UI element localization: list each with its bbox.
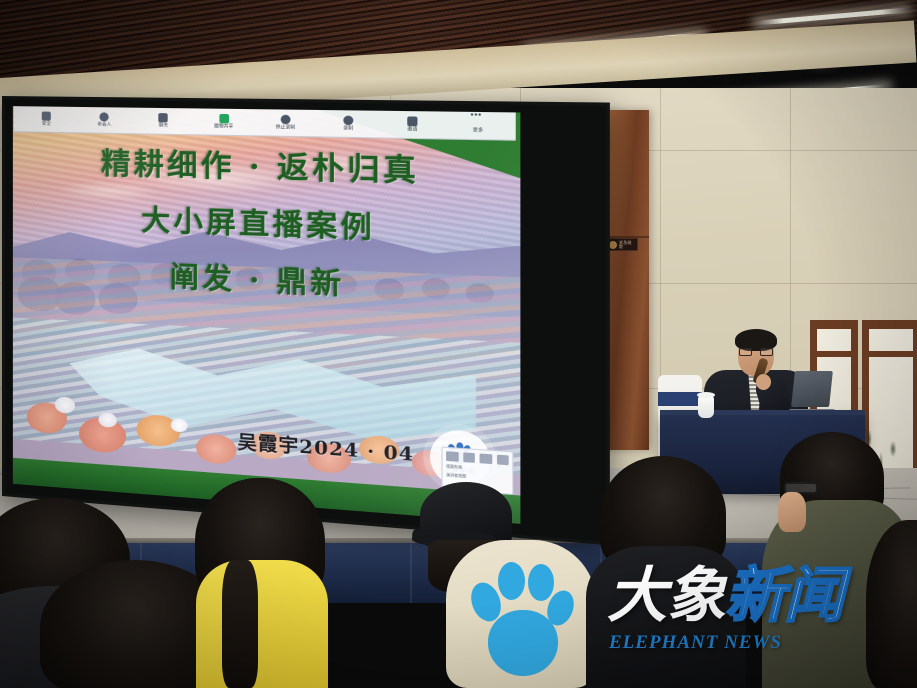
slide-title-line-2: 大小屏直播案例 bbox=[13, 196, 521, 256]
slide-title-line-1: 精耕细作 · 返朴归真 bbox=[13, 140, 521, 197]
toolbar-item-record[interactable]: 录制 bbox=[324, 116, 373, 132]
laptop bbox=[789, 371, 833, 415]
layout-option-tiled[interactable] bbox=[496, 455, 508, 466]
toolbar-item-stop-record[interactable]: 停止录制 bbox=[261, 115, 309, 131]
layout-option-gallery[interactable] bbox=[463, 452, 475, 463]
toolbar-label: 安全 bbox=[42, 122, 51, 127]
toolbar-label: 邀请 bbox=[407, 127, 417, 132]
toolbar-item-share-screen[interactable]: 圈物共享 bbox=[200, 114, 247, 130]
layout-option-grid[interactable] bbox=[480, 453, 492, 464]
wall-plaque: 紧急疏散 bbox=[606, 238, 638, 251]
watermark-text-outlined: 新闻 bbox=[725, 561, 843, 631]
laptop-lid bbox=[791, 371, 833, 407]
shield-icon bbox=[42, 112, 51, 121]
layout-popup-option[interactable]: 演讲者视图 bbox=[446, 472, 509, 481]
toolbar-item-security[interactable]: 安全 bbox=[24, 112, 68, 127]
chat-icon bbox=[159, 113, 168, 122]
watermark-title: 大象新闻 bbox=[607, 566, 843, 626]
layout-options-row[interactable] bbox=[446, 451, 509, 465]
paw-print-icon bbox=[468, 556, 574, 678]
plaque-emblem-icon bbox=[609, 241, 617, 249]
slide-title: 精耕细作 · 返朴归真 大小屏直播案例 阐发 · 鼎新 bbox=[13, 140, 521, 315]
toolbar-label: 更多 bbox=[473, 128, 483, 133]
toolbar-label: 圈物共享 bbox=[214, 124, 233, 129]
toolbar-label: 录制 bbox=[343, 126, 353, 131]
audience-member-yellow-jacket-body bbox=[196, 560, 328, 688]
record-icon bbox=[343, 116, 353, 126]
presentation-slide: 精耕细作 · 返朴归真 大小屏直播案例 阐发 · 鼎新 吴霞宇2024 · 04… bbox=[13, 106, 521, 524]
toolbar-label: 停止录制 bbox=[276, 125, 296, 130]
audience-member-yellow-jacket-long-hair bbox=[222, 560, 258, 688]
presenter-glasses bbox=[739, 348, 773, 356]
toolbar-item-participants[interactable]: 参会人 bbox=[82, 112, 127, 127]
layout-option-speaker[interactable] bbox=[446, 451, 458, 462]
participants-icon bbox=[100, 113, 109, 122]
teacup bbox=[698, 396, 714, 418]
plaque-text: 紧急疏散 bbox=[619, 241, 635, 249]
conference-room-photo: 紧急疏散 bbox=[0, 0, 917, 688]
watermark-text-white: 大象 bbox=[607, 561, 725, 631]
elephant-news-watermark: 大象新闻 ELEPHANT NEWS bbox=[607, 566, 907, 670]
toolbar-item-more[interactable]: 更多 bbox=[453, 117, 504, 133]
invite-icon bbox=[407, 117, 417, 127]
more-dots-icon bbox=[473, 118, 483, 128]
share-screen-icon bbox=[219, 114, 229, 123]
chair-sash bbox=[658, 392, 702, 406]
toolbar-item-invite[interactable]: 邀请 bbox=[388, 116, 438, 132]
toolbar-label: 参会人 bbox=[97, 123, 111, 128]
toolbar-label: 聊天 bbox=[159, 124, 168, 129]
presenter-hand bbox=[756, 374, 771, 390]
watermark-subtitle: ELEPHANT NEWS bbox=[609, 632, 782, 654]
audience-member-olive-jacket-hand bbox=[778, 492, 806, 532]
stop-record-icon bbox=[280, 115, 290, 125]
toolbar-item-chat[interactable]: 聊天 bbox=[141, 113, 187, 129]
